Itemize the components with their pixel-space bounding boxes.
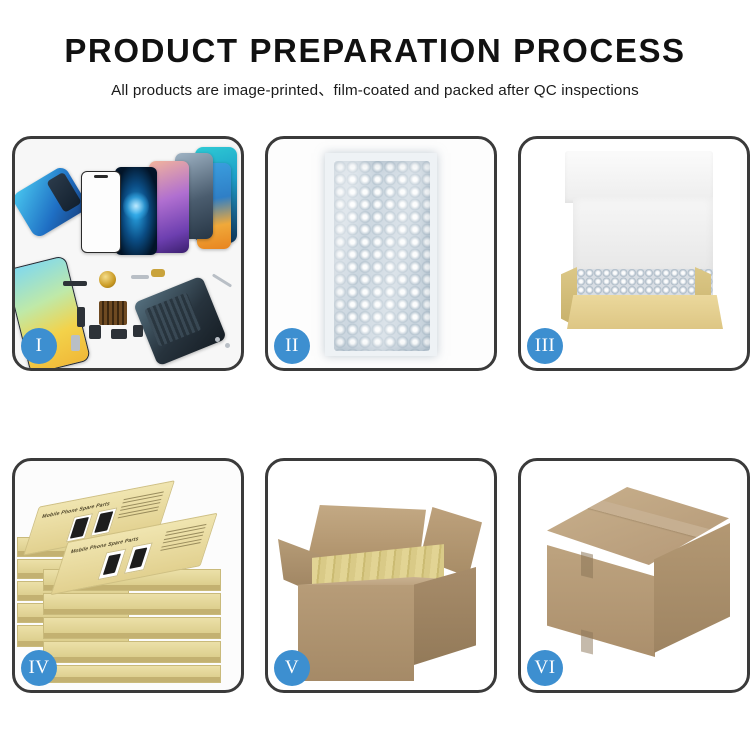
sim-tray-part [133, 325, 143, 337]
phone-back-housing [133, 276, 227, 367]
connector-part [131, 275, 149, 279]
step-badge-6: VI [527, 650, 563, 686]
step-badge-4: IV [21, 650, 57, 686]
process-steps-grid: I II III [12, 136, 738, 693]
screw-part [225, 343, 230, 348]
step-badge-2: II [274, 328, 310, 364]
phone-lcd-blue [15, 165, 89, 240]
bubble-wrapped-contents [577, 269, 713, 297]
carton-seam-lower [581, 630, 593, 655]
step-badge-1: I [21, 328, 57, 364]
step-panel-1: I [12, 136, 244, 371]
page-title: PRODUCT PREPARATION PROCESS [0, 34, 750, 69]
step-panel-5: V [265, 458, 497, 693]
box-label-spec-lines [117, 491, 164, 520]
carton-seam-upper [581, 552, 593, 579]
stacked-box [43, 593, 221, 615]
camera-module-part [89, 325, 101, 339]
chip-array-part [99, 301, 127, 325]
bubble-wrap-texture [334, 161, 430, 351]
box-label-phone-image [97, 548, 126, 580]
stacked-box [43, 665, 221, 683]
step-panel-3: III [518, 136, 750, 371]
box-label-spec-lines [160, 524, 207, 553]
kraft-box-front [567, 295, 723, 329]
page-header: PRODUCT PREPARATION PROCESS All products… [0, 0, 750, 100]
stacked-box [43, 617, 221, 639]
sim-card-part [71, 335, 80, 351]
step-badge-3: III [527, 328, 563, 364]
step-panel-6: VI [518, 458, 750, 693]
box-lid-back [565, 151, 713, 203]
button-flex-part [77, 307, 85, 327]
step-panel-2: II [265, 136, 497, 371]
box-label-phone-image [124, 542, 153, 574]
carton-front-face [298, 585, 414, 681]
box-label-text: Mobile Phone Spare Parts [70, 536, 140, 556]
flex-cable-part [63, 281, 87, 286]
step-panel-4: Mobile Phone Spare Parts Mobile Phone Sp… [12, 458, 244, 693]
box-lid-face [573, 197, 713, 275]
phone-jellyfish-wallpaper [115, 167, 157, 255]
speaker-coil-part [99, 271, 116, 288]
phone-screen-glass [81, 171, 121, 253]
sealed-carton-front [547, 545, 655, 657]
vibrator-part [111, 329, 127, 339]
screw-part [215, 337, 220, 342]
page-subtitle: All products are image-printed、film-coat… [0, 78, 750, 100]
step-badge-5: V [274, 650, 310, 686]
antenna-part [212, 273, 232, 287]
stacked-box [43, 641, 221, 663]
gold-contact-part [151, 269, 165, 277]
